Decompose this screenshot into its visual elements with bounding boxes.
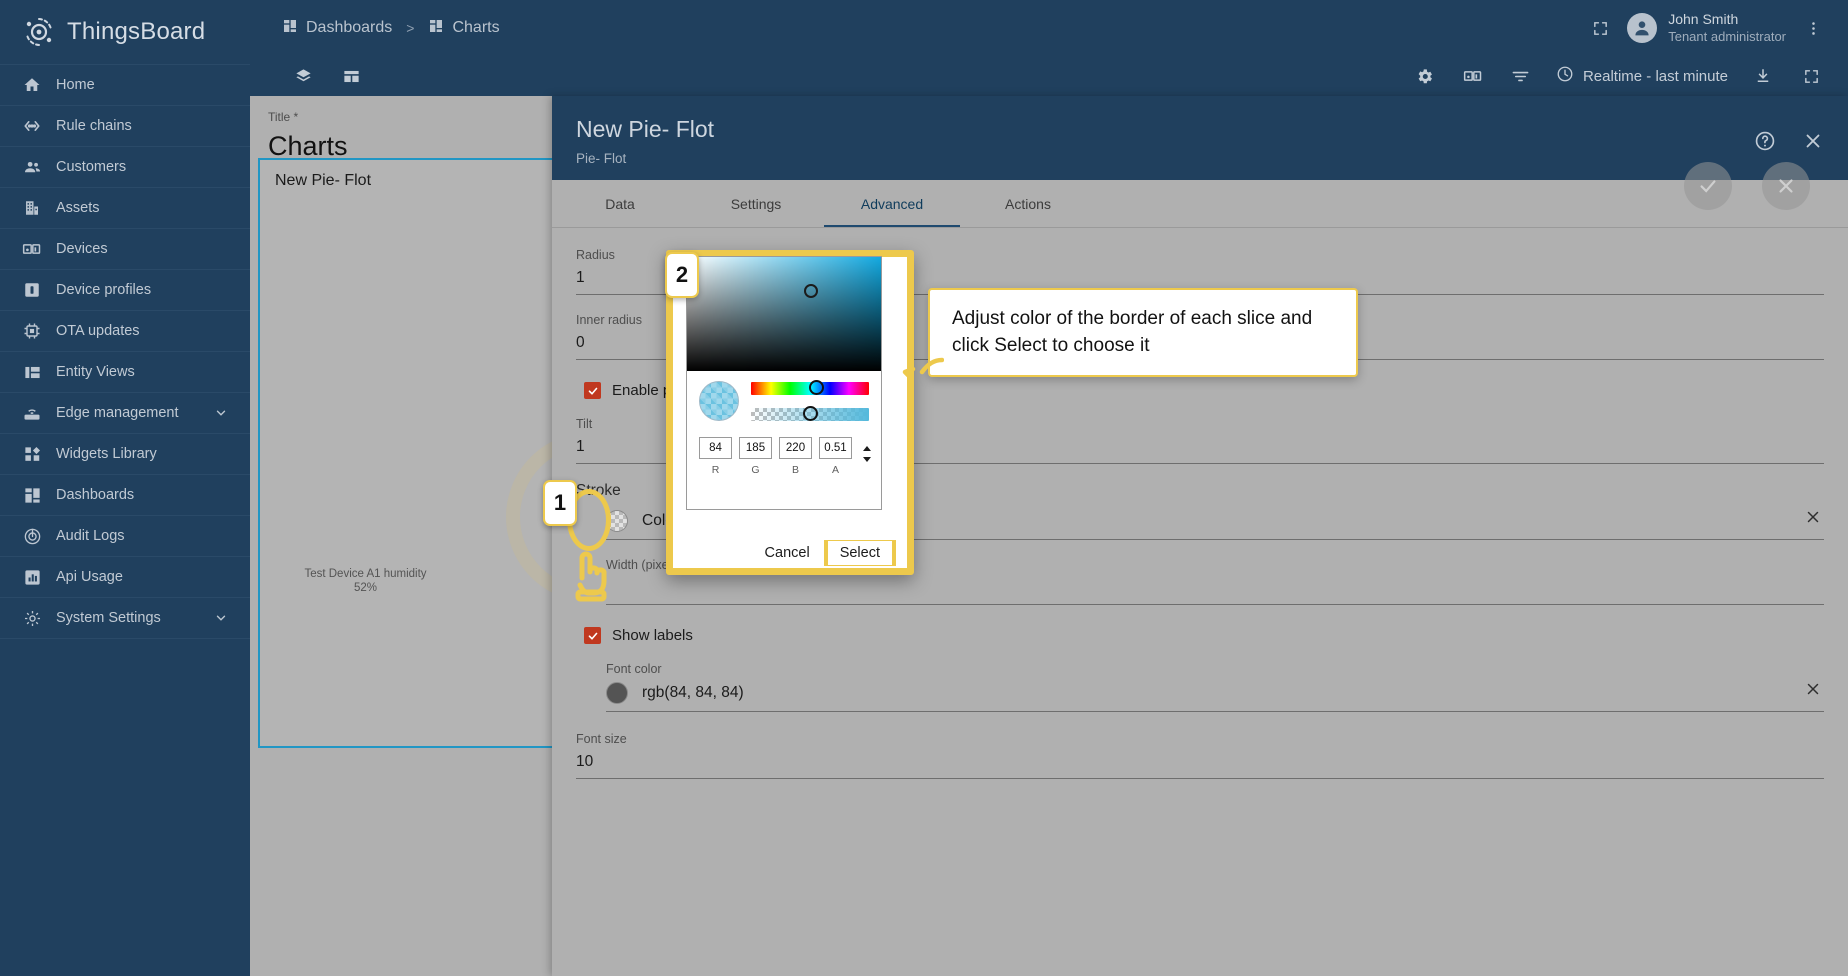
avatar xyxy=(1627,13,1657,43)
more-vertical-icon[interactable] xyxy=(1800,15,1826,41)
color-preview-swatch xyxy=(699,381,739,421)
thingsboard-logo-icon xyxy=(22,15,56,49)
field-font-color[interactable]: Font color rgb(84, 84, 84) xyxy=(576,662,1824,712)
cancel-button[interactable]: Cancel xyxy=(751,539,824,567)
filter-icon[interactable] xyxy=(1508,63,1534,89)
pie-slice-label: Test Device A1 humidity 52% xyxy=(278,567,453,596)
checkmark-icon xyxy=(584,382,601,399)
tab-label: Actions xyxy=(1005,196,1051,212)
details-header-actions xyxy=(1752,128,1826,154)
alpha-input-group: A xyxy=(819,437,852,476)
color-picker-actions: Cancel Select xyxy=(686,536,896,570)
tab-label: Settings xyxy=(731,196,782,212)
devices-icon xyxy=(22,239,42,259)
alpha-input[interactable] xyxy=(819,437,852,459)
checkbox-show-labels[interactable]: Show labels xyxy=(584,627,1824,644)
breadcrumb-charts[interactable]: Charts xyxy=(428,18,499,39)
sidebar-item-assets[interactable]: Assets xyxy=(0,188,250,229)
chevron-down-icon[interactable] xyxy=(214,611,228,625)
saturation-handle[interactable] xyxy=(804,284,818,298)
tab-actions[interactable]: Actions xyxy=(960,180,1096,227)
blue-label: B xyxy=(779,464,812,476)
sidebar-item-label: Customers xyxy=(56,159,126,175)
breadcrumb-separator: > xyxy=(406,20,414,36)
tab-settings[interactable]: Settings xyxy=(688,180,824,227)
customers-icon xyxy=(22,157,42,177)
widgets-library-icon xyxy=(22,444,42,464)
sidebar-item-label: Home xyxy=(56,77,95,93)
slider-group xyxy=(751,382,869,421)
home-icon xyxy=(22,75,42,95)
sidebar-item-label: Assets xyxy=(56,200,100,216)
fullscreen-icon[interactable] xyxy=(1587,15,1613,41)
close-icon[interactable] xyxy=(1800,128,1826,154)
dashboards-icon xyxy=(282,18,298,39)
green-input-group: G xyxy=(739,437,772,476)
layout-icon[interactable] xyxy=(338,63,364,89)
red-input[interactable] xyxy=(699,437,732,459)
breadcrumb-dashboards-label: Dashboards xyxy=(306,19,392,37)
sidebar-item-edge-management[interactable]: Edge management xyxy=(0,393,250,434)
apply-button[interactable] xyxy=(1684,162,1732,210)
field-font-size-label: Font size xyxy=(576,732,1824,746)
sidebar-item-ota-updates[interactable]: OTA updates xyxy=(0,311,250,352)
fullscreen-icon[interactable] xyxy=(1798,63,1824,89)
sidebar-item-label: OTA updates xyxy=(56,323,140,339)
alpha-handle[interactable] xyxy=(803,406,818,421)
green-label: G xyxy=(739,464,772,476)
details-subtitle: Pie- Flot xyxy=(576,151,1848,166)
sidebar-item-label: Device profiles xyxy=(56,282,151,298)
sidebar: ThingsBoard Home Rule chains Customers A… xyxy=(0,0,250,976)
sidebar-nav: Home Rule chains Customers Assets Device… xyxy=(0,64,250,639)
sidebar-item-label: System Settings xyxy=(56,610,161,626)
timewindow-label: Realtime - last minute xyxy=(1583,68,1728,85)
dashboards-icon xyxy=(22,485,42,505)
checkbox-show-labels-label: Show labels xyxy=(612,627,693,644)
annotation-tooltip: Adjust color of the border of each slice… xyxy=(928,288,1358,377)
clear-font-color-icon[interactable] xyxy=(1804,680,1824,700)
annotation-arrow-icon xyxy=(902,352,944,387)
sidebar-item-label: Entity Views xyxy=(56,364,135,380)
tab-data[interactable]: Data xyxy=(552,180,688,227)
sidebar-item-api-usage[interactable]: Api Usage xyxy=(0,557,250,598)
dashboard-toolbar: Realtime - last minute xyxy=(250,56,1848,96)
annotation-step-2: 2 xyxy=(665,252,699,298)
clock-icon xyxy=(1556,65,1574,87)
checkmark-icon xyxy=(584,627,601,644)
blue-input-group: B xyxy=(779,437,812,476)
sidebar-item-label: Devices xyxy=(56,241,108,257)
brand-logo-block[interactable]: ThingsBoard xyxy=(0,0,250,64)
sidebar-item-label: Widgets Library xyxy=(56,446,157,462)
select-button[interactable]: Select xyxy=(828,541,892,565)
pie-slice-label-percent: 52% xyxy=(278,581,453,595)
sidebar-item-dashboards[interactable]: Dashboards xyxy=(0,475,250,516)
rule-chains-icon xyxy=(22,116,42,136)
annotation-step-1: 1 xyxy=(543,480,577,526)
breadcrumb-charts-label: Charts xyxy=(452,19,499,37)
font-color-swatch[interactable] xyxy=(606,682,628,704)
alpha-label: A xyxy=(819,464,852,476)
download-icon[interactable] xyxy=(1750,63,1776,89)
gear-icon[interactable] xyxy=(1412,63,1438,89)
breadcrumb: Dashboards > Charts xyxy=(282,18,500,39)
user-name: John Smith xyxy=(1668,11,1786,29)
pie-slice-label-text: Test Device A1 humidity xyxy=(278,567,453,581)
help-icon[interactable] xyxy=(1752,128,1778,154)
hue-handle[interactable] xyxy=(809,380,824,395)
sidebar-item-label: Rule chains xyxy=(56,118,132,134)
clear-stroke-color-icon[interactable] xyxy=(1804,508,1824,528)
annotation-hand-cursor-icon xyxy=(568,548,614,609)
select-button-highlight: Select xyxy=(824,540,896,566)
details-title: New Pie- Flot xyxy=(576,116,1848,143)
sidebar-item-customers[interactable]: Customers xyxy=(0,147,250,188)
color-picker-body: R G B A xyxy=(686,256,882,510)
blue-input[interactable] xyxy=(779,437,812,459)
user-menu[interactable]: John Smith Tenant administrator xyxy=(1627,11,1786,45)
cancel-button[interactable] xyxy=(1762,162,1810,210)
saturation-value-area[interactable] xyxy=(687,257,881,371)
field-font-size-value[interactable]: 10 xyxy=(576,746,1824,779)
sidebar-item-device-profiles[interactable]: Device profiles xyxy=(0,270,250,311)
breadcrumb-dashboards[interactable]: Dashboards xyxy=(282,18,392,39)
brand-name: ThingsBoard xyxy=(67,18,205,46)
spinner-icon[interactable] xyxy=(861,445,873,468)
field-stroke-width-value[interactable] xyxy=(606,572,1824,605)
red-input-group: R xyxy=(699,437,732,476)
user-role: Tenant administrator xyxy=(1668,29,1786,45)
edge-management-icon xyxy=(22,403,42,423)
sidebar-item-entity-views[interactable]: Entity Views xyxy=(0,352,250,393)
layers-icon[interactable] xyxy=(290,63,316,89)
charts-icon xyxy=(428,18,444,39)
field-font-size[interactable]: Font size 10 xyxy=(576,732,1824,779)
sidebar-item-label: Api Usage xyxy=(56,569,123,585)
sidebar-item-audit-logs[interactable]: Audit Logs xyxy=(0,516,250,557)
sidebar-item-rule-chains[interactable]: Rule chains xyxy=(0,106,250,147)
sidebar-item-system-settings[interactable]: System Settings xyxy=(0,598,250,639)
details-header: New Pie- Flot Pie- Flot xyxy=(552,96,1848,180)
field-font-color-label: Font color xyxy=(606,662,1824,676)
audit-logs-icon xyxy=(22,526,42,546)
ota-updates-icon xyxy=(22,321,42,341)
device-profiles-icon xyxy=(22,280,42,300)
red-label: R xyxy=(699,464,732,476)
sidebar-item-home[interactable]: Home xyxy=(0,65,250,106)
toolbar-left xyxy=(290,63,364,89)
assets-icon xyxy=(22,198,42,218)
device-state-icon[interactable] xyxy=(1460,63,1486,89)
font-color-row[interactable]: rgb(84, 84, 84) xyxy=(606,682,1824,712)
alpha-slider[interactable] xyxy=(751,408,869,421)
rgba-inputs: R G B A xyxy=(687,425,881,476)
chevron-down-icon[interactable] xyxy=(214,406,228,420)
sidebar-item-devices[interactable]: Devices xyxy=(0,229,250,270)
tab-label: Advanced xyxy=(861,196,923,212)
sidebar-item-label: Edge management xyxy=(56,405,179,421)
top-bar: Dashboards > Charts John Smith Tenant ad… xyxy=(250,0,1848,56)
app-root: ThingsBoard Home Rule chains Customers A… xyxy=(0,0,1848,976)
user-info: John Smith Tenant administrator xyxy=(1668,11,1786,45)
green-input[interactable] xyxy=(739,437,772,459)
sidebar-item-label: Audit Logs xyxy=(56,528,125,544)
sidebar-item-label: Dashboards xyxy=(56,487,134,503)
api-usage-icon xyxy=(22,567,42,587)
color-picker-sliders-row xyxy=(687,371,881,425)
system-settings-icon xyxy=(22,608,42,628)
hue-slider[interactable] xyxy=(751,382,869,395)
tab-label: Data xyxy=(605,196,635,212)
font-color-value: rgb(84, 84, 84) xyxy=(642,684,744,702)
sidebar-item-widgets-library[interactable]: Widgets Library xyxy=(0,434,250,475)
details-fab-row xyxy=(1684,162,1810,210)
tab-advanced[interactable]: Advanced xyxy=(824,180,960,227)
top-bar-actions: John Smith Tenant administrator xyxy=(1587,11,1848,45)
timewindow-selector[interactable]: Realtime - last minute xyxy=(1556,65,1728,87)
details-tabs: Data Settings Advanced Actions xyxy=(552,180,1848,228)
toolbar-right: Realtime - last minute xyxy=(1412,63,1848,89)
entity-views-icon xyxy=(22,362,42,382)
